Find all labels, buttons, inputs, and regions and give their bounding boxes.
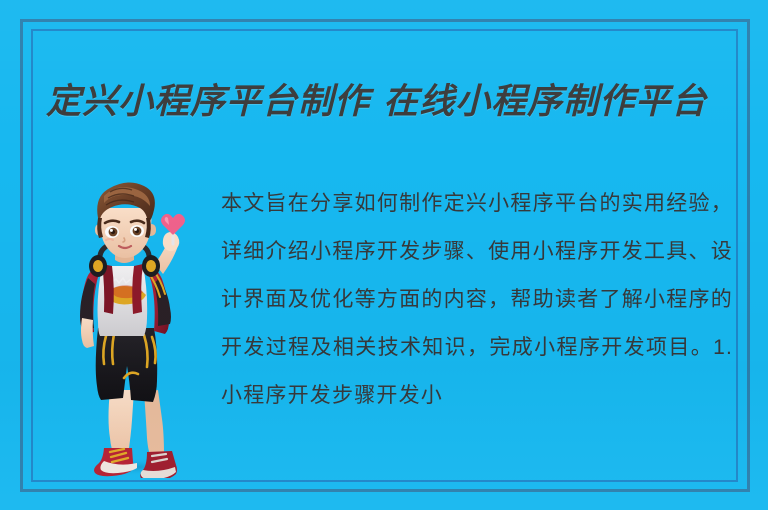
eye-left xyxy=(105,226,119,238)
poster-canvas: 定兴小程序平台制作 在线小程序制作平台 本文旨在分享如何制作定兴小程序平台的实用… xyxy=(0,0,768,510)
arm-left xyxy=(81,318,94,348)
blush-left xyxy=(106,239,113,240)
page-title: 定兴小程序平台制作 在线小程序制作平台 xyxy=(46,79,736,125)
chibi-boy-character-illustration xyxy=(60,178,206,478)
leg-left xyxy=(109,390,135,456)
eye-right xyxy=(130,225,144,237)
ear-right xyxy=(150,224,156,236)
shoe-right xyxy=(140,451,177,478)
article-body-text: 本文旨在分享如何制作定兴小程序平台的实用经验，详细介绍小程序开发步骤、使用小程序… xyxy=(221,180,733,420)
